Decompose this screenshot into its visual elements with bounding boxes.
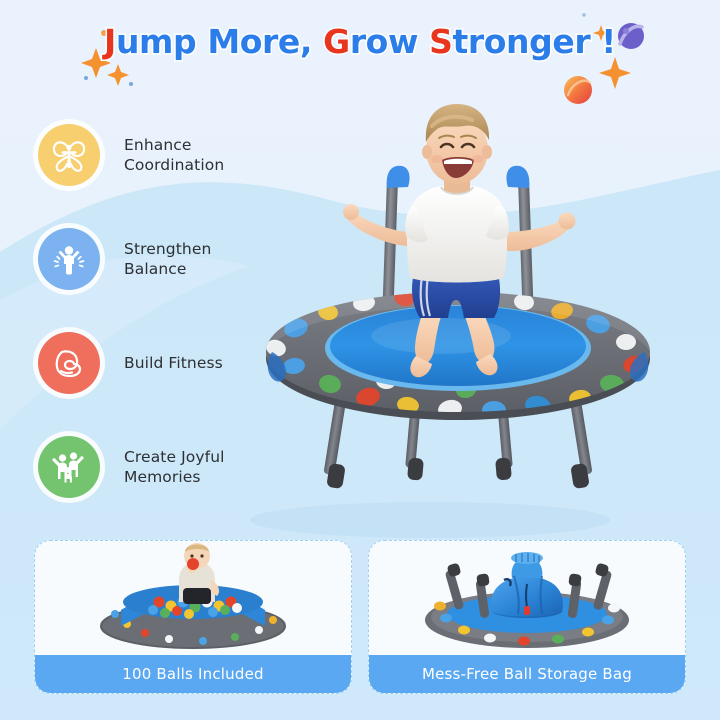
card-image-storage-bag xyxy=(369,541,685,655)
feature-icon-balance-person-icon xyxy=(38,228,100,290)
feature-label: Build Fitness xyxy=(124,353,223,373)
title-segment: ump More, xyxy=(116,22,323,61)
ball-pit-with-baby-image xyxy=(63,541,323,655)
feature-label-line1: Enhance xyxy=(124,135,224,155)
handle-grip xyxy=(387,166,410,188)
card-image-ball-pit xyxy=(35,541,351,655)
feature-icon-flexed-bicep-icon xyxy=(38,332,100,394)
feature-icon-family-joy-icon xyxy=(38,436,100,498)
feature-label-line2: Balance xyxy=(124,259,211,279)
headline-container: Jump More, Grow Stronger ! xyxy=(0,22,720,61)
feature-label-line1: Strengthen xyxy=(124,239,211,259)
title-segment: J xyxy=(104,22,116,61)
butterfly-person-icon xyxy=(49,135,89,175)
hero-product-image xyxy=(236,60,680,538)
feature-icon-butterfly-person-icon xyxy=(38,124,100,186)
card-caption: 100 Balls Included xyxy=(35,655,351,693)
card-caption: Mess-Free Ball Storage Bag xyxy=(369,655,685,693)
page-title: Jump More, Grow Stronger ! xyxy=(104,22,616,61)
family-joy-icon xyxy=(48,446,90,488)
feature-label: Strengthen Balance xyxy=(124,239,211,280)
feature-item-enhance-coordination: Enhance Coordination xyxy=(38,103,288,207)
title-segment: S xyxy=(429,22,452,61)
ball-storage-bag-image xyxy=(392,541,662,655)
feature-list: Enhance Coordination Strengthen Balance xyxy=(38,103,288,519)
flexed-bicep-icon xyxy=(49,343,89,383)
feature-label-line2: Coordination xyxy=(124,155,224,175)
feature-label: Create Joyful Memories xyxy=(124,447,225,488)
title-segment: tronger ! xyxy=(453,22,616,61)
handle-grip xyxy=(506,166,529,188)
storage-bag xyxy=(491,552,563,618)
feature-label-line1: Build Fitness xyxy=(124,353,223,373)
feature-item-create-joyful-memories: Create Joyful Memories xyxy=(38,415,288,519)
feature-item-build-fitness: Build Fitness xyxy=(38,311,288,415)
bottom-card-row: 100 Balls Included xyxy=(34,540,686,694)
feature-label-line1: Create Joyful xyxy=(124,447,225,467)
balance-person-icon xyxy=(49,239,89,279)
baby-figure xyxy=(179,543,219,604)
title-segment: G xyxy=(323,22,350,61)
feature-label: Enhance Coordination xyxy=(124,135,224,176)
feature-item-strengthen-balance: Strengthen Balance xyxy=(38,207,288,311)
trampoline-mat xyxy=(325,305,591,391)
title-segment: row xyxy=(350,22,429,61)
feature-label-line2: Memories xyxy=(124,467,225,487)
card-mess-free-ball-storage-bag[interactable]: Mess-Free Ball Storage Bag xyxy=(368,540,686,694)
card-100-balls-included[interactable]: 100 Balls Included xyxy=(34,540,352,694)
